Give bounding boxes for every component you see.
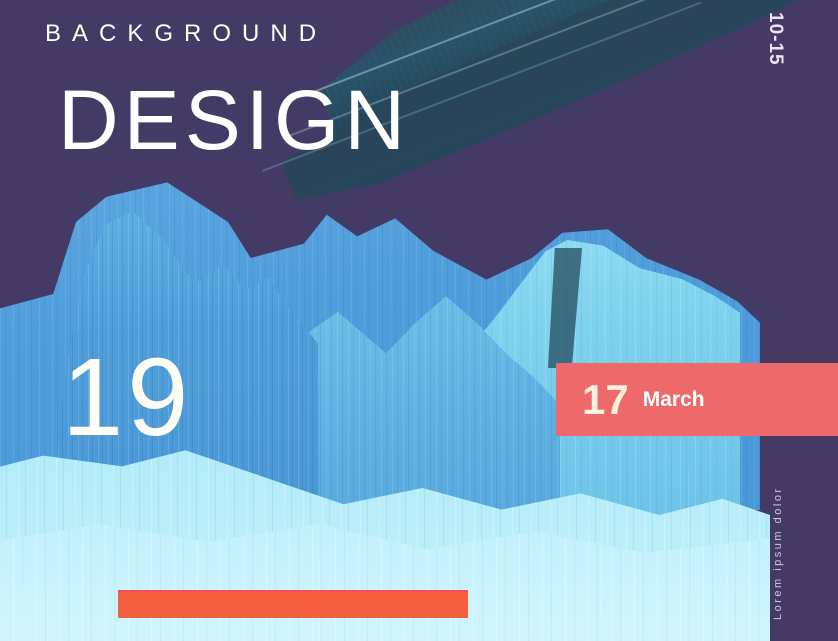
glitch-sliver: [688, 470, 689, 590]
glitch-sliver: [600, 520, 602, 620]
glitch-sliver: [22, 585, 24, 641]
date-month: March: [643, 389, 705, 410]
poster-canvas: BACKGROUND DESIGN 19 17 March 10-15 Lore…: [0, 0, 838, 641]
page-title: DESIGN: [58, 78, 410, 162]
vertical-caption: Lorem ipsum dolor: [772, 486, 784, 620]
bottom-accent-bar: [118, 592, 468, 618]
big-number: 19: [62, 343, 192, 453]
kicker-text: BACKGROUND: [45, 20, 327, 48]
date-day: 17: [582, 379, 629, 421]
vertical-date-range: 10-15: [764, 12, 786, 66]
glitch-sliver: [40, 598, 41, 641]
date-banner: 17 March: [556, 363, 838, 436]
